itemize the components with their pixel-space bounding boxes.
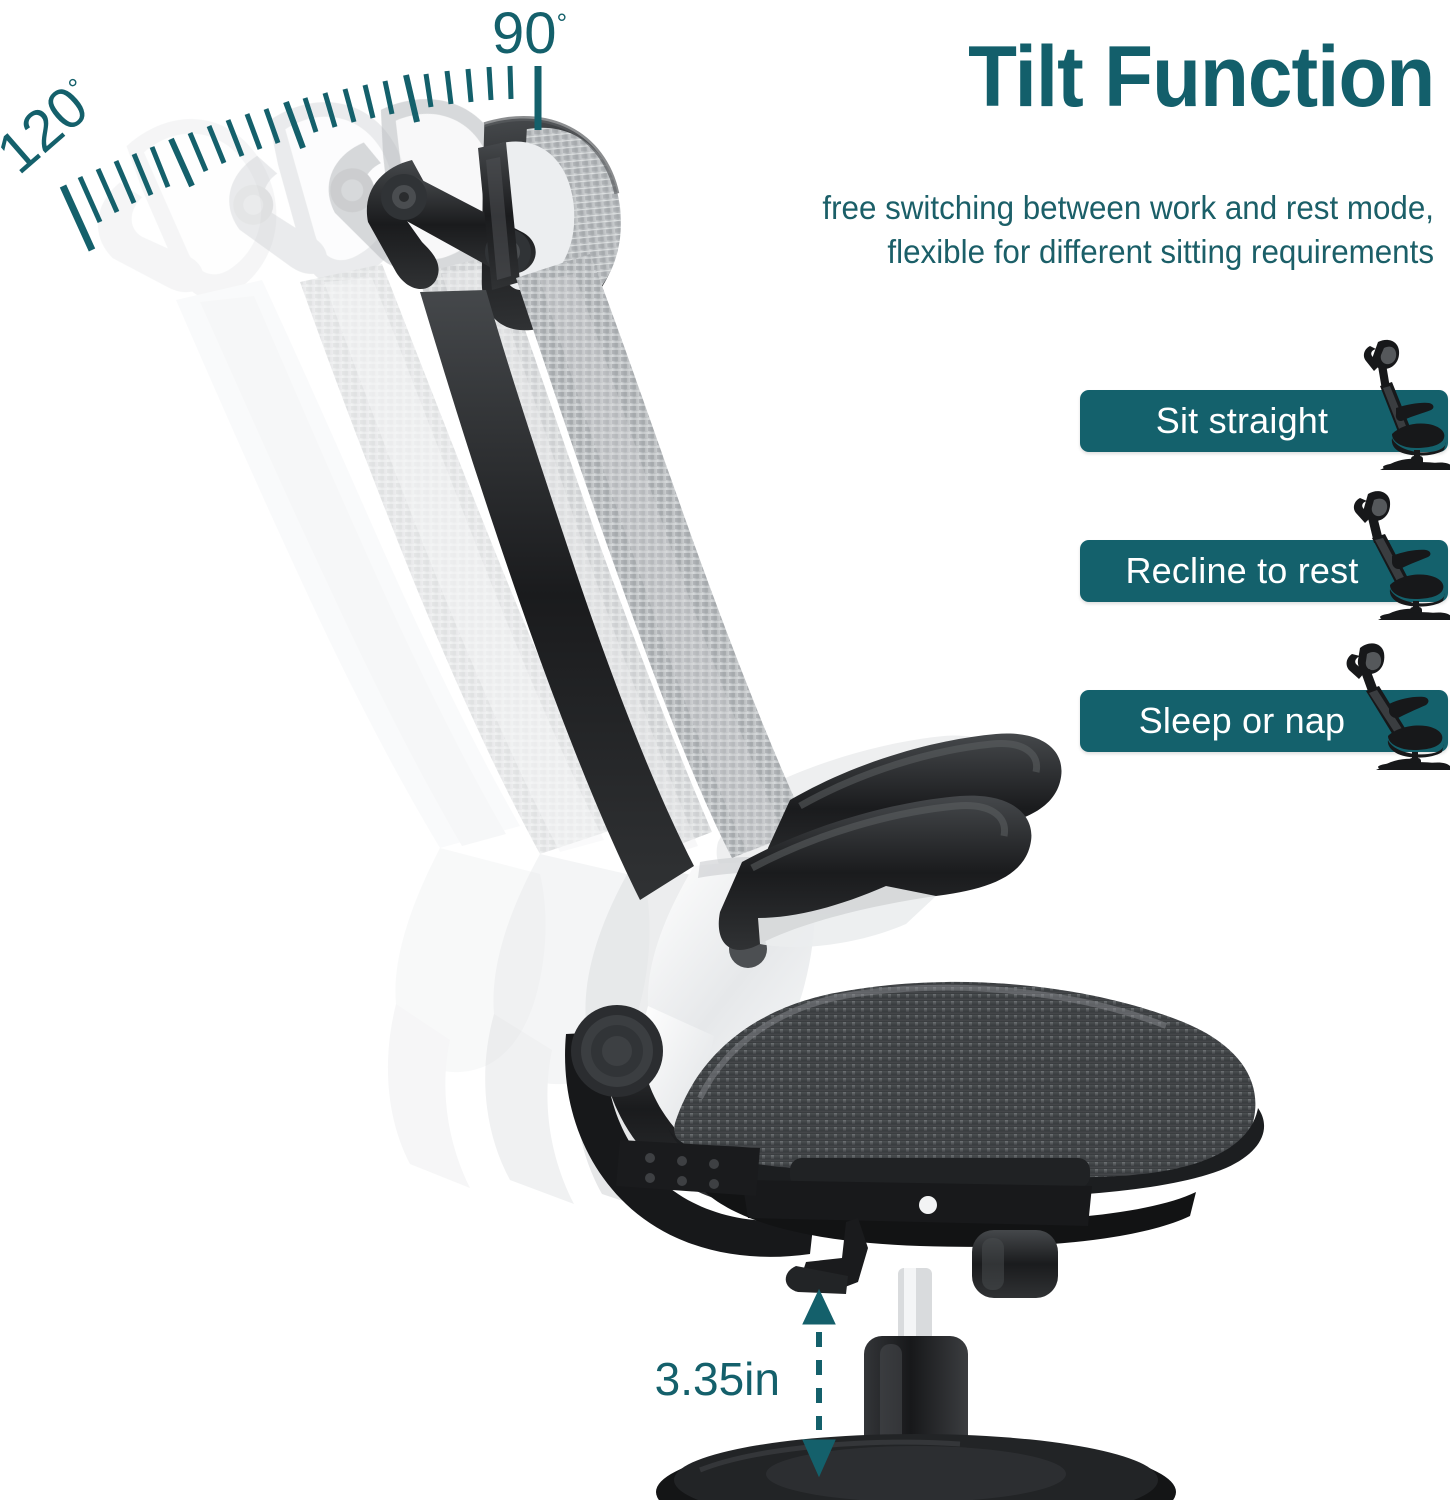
mode-badge-label: Sleep or nap — [1139, 700, 1346, 742]
list-item: Recline to rest — [1078, 480, 1450, 630]
height-knob — [972, 1230, 1058, 1298]
chair-fully-reclined-icon — [1334, 638, 1450, 770]
gauge-ticks — [63, 66, 538, 250]
height-dimension: 3.35in — [630, 1280, 860, 1490]
list-item: Sleep or nap — [1078, 630, 1450, 780]
dimension-arrow — [803, 1290, 835, 1476]
mode-badge-label: Recline to rest — [1125, 550, 1358, 592]
degree-symbol-90: ° — [557, 9, 568, 39]
list-item: Sit straight — [1078, 330, 1450, 480]
infographic-canvas: 120° 90° 3.35in Tilt Function free switc… — [0, 0, 1450, 1500]
angle-gauge: 120° 90° — [0, 0, 640, 300]
chair-reclined-icon — [1334, 488, 1450, 620]
page-subtitle: free switching between work and rest mod… — [750, 186, 1434, 274]
subtitle-line-1: free switching between work and rest mod… — [750, 186, 1434, 230]
chair-upright-icon — [1334, 338, 1450, 470]
height-dimension-label: 3.35in — [630, 1352, 780, 1406]
subtitle-line-2: flexible for different sitting requireme… — [750, 230, 1434, 274]
page-title: Tilt Function — [968, 34, 1434, 120]
mode-list: Sit straight — [1078, 330, 1450, 780]
angle-label-90: 90° — [492, 0, 567, 67]
mode-badge-label: Sit straight — [1156, 400, 1328, 442]
